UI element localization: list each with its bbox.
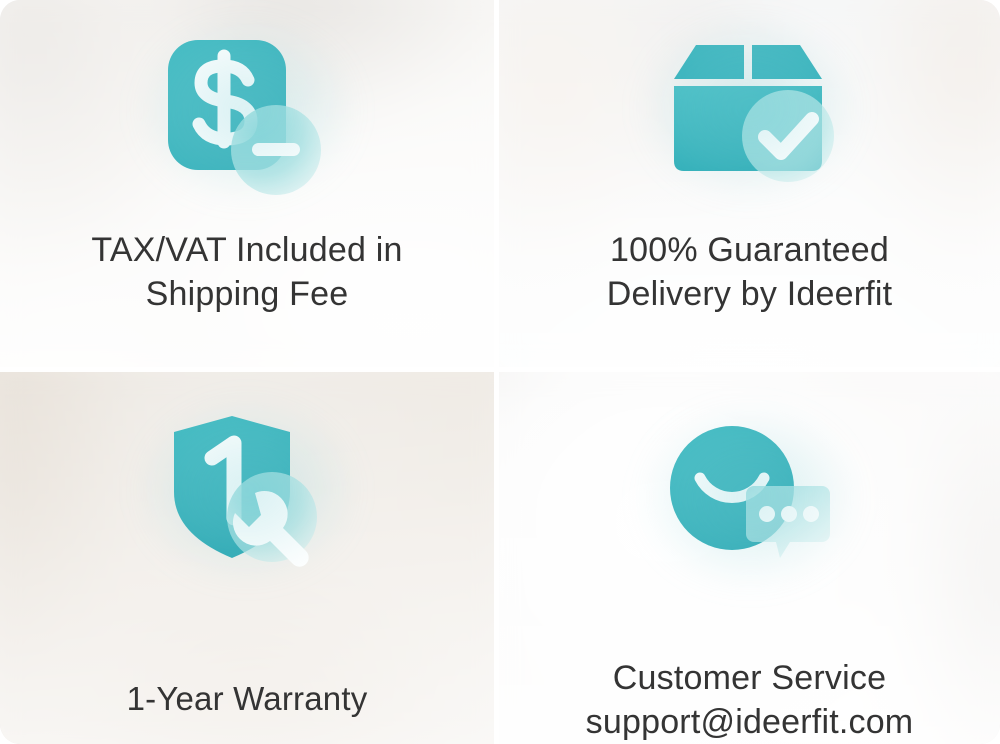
feature-card-guaranteed-delivery[interactable]: 100% Guaranteed Delivery by Ideerfit — [497, 0, 1000, 370]
feature-caption: Customer Service support@ideerfit.com — [586, 656, 914, 744]
feature-card-tax-vat[interactable]: TAX/VAT Included in Shipping Fee — [0, 0, 497, 370]
shipping-box-icon — [655, 28, 845, 188]
dollar-receipt-icon — [152, 30, 342, 190]
feature-caption: 100% Guaranteed Delivery by Ideerfit — [607, 228, 893, 316]
feature-grid: TAX/VAT Included in Shipping Fee — [0, 0, 1000, 744]
feature-card-warranty[interactable]: 1-Year Warranty — [0, 370, 497, 744]
feature-card-customer-service[interactable]: Customer Service support@ideerfit.com — [497, 370, 1000, 744]
feature-banner: TAX/VAT Included in Shipping Fee — [0, 0, 1000, 744]
feature-caption: 1-Year Warranty — [127, 678, 368, 721]
support-smile-icon — [655, 422, 845, 572]
shield-one-icon — [152, 410, 342, 570]
feature-caption: TAX/VAT Included in Shipping Fee — [91, 228, 402, 316]
